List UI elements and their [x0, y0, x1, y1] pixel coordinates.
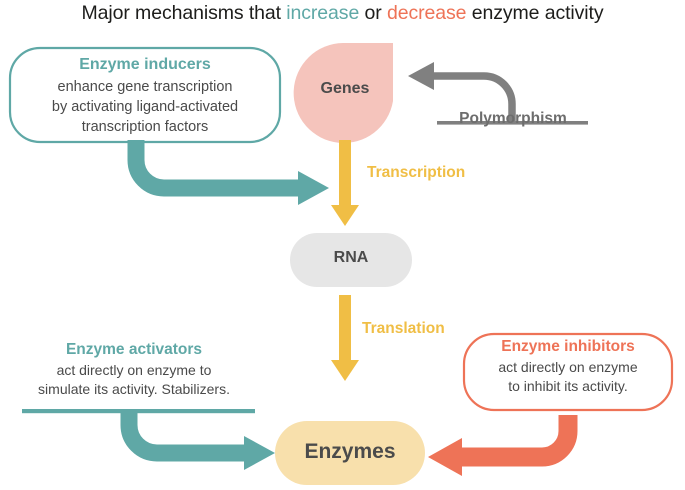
enzyme-activators-line-2: simulate its activity. Stabilizers. — [8, 380, 260, 399]
enzyme-activators-heading: Enzyme activators — [8, 340, 260, 359]
title-decrease-highlight: decrease — [387, 2, 466, 24]
transcription-arrow — [331, 140, 359, 226]
title-increase-highlight: increase — [286, 2, 359, 24]
enzyme-inducers-line-2: by activating ligand-activated — [12, 97, 278, 117]
diagram-canvas: Major mechanisms that increase or decrea… — [0, 0, 685, 490]
translation-label: Translation — [362, 320, 445, 338]
enzymes-node-label: Enzymes — [275, 440, 425, 464]
translation-arrow — [331, 295, 359, 381]
enzyme-inducers-callout[interactable]: Enzyme inducers enhance gene transcripti… — [12, 55, 278, 137]
enzyme-inhibitors-arrow — [428, 415, 568, 476]
title-part-2: or — [359, 2, 387, 24]
enzyme-inhibitors-heading: Enzyme inhibitors — [466, 337, 670, 356]
title-part-3: enzyme activity — [466, 2, 603, 24]
genes-node-label: Genes — [297, 80, 393, 98]
rna-node-label: RNA — [290, 249, 412, 267]
enzyme-inducers-heading: Enzyme inducers — [12, 55, 278, 75]
enzyme-inducers-line-3: transcription factors — [12, 117, 278, 137]
enzyme-activators-callout[interactable]: Enzyme activators act directly on enzyme… — [8, 340, 260, 399]
enzyme-inducers-line-1: enhance gene transcription — [12, 77, 278, 97]
page-title: Major mechanisms that increase or decrea… — [0, 2, 685, 25]
polymorphism-label: Polymorphism — [433, 110, 593, 128]
transcription-label: Transcription — [367, 164, 465, 182]
enzyme-inducers-arrow — [136, 140, 329, 205]
enzyme-inhibitors-line-2: to inhibit its activity. — [466, 377, 670, 396]
title-part-1: Major mechanisms that — [81, 2, 286, 24]
enzyme-activators-arrow — [22, 409, 275, 470]
enzyme-inhibitors-callout[interactable]: Enzyme inhibitors act directly on enzyme… — [466, 337, 670, 396]
enzyme-activators-line-1: act directly on enzyme to — [8, 361, 260, 380]
enzyme-inhibitors-line-1: act directly on enzyme — [466, 358, 670, 377]
